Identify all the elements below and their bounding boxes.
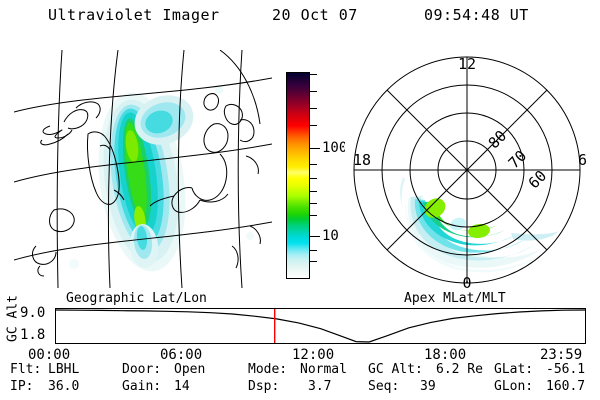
mlt-label-6: 6 bbox=[578, 151, 587, 169]
strip-plot-box bbox=[55, 308, 586, 344]
status-glon-value: 160.7 bbox=[546, 379, 585, 394]
mlt-label-12: 12 bbox=[458, 55, 476, 73]
colorbar-tick bbox=[310, 125, 317, 126]
colorbar-tick bbox=[310, 164, 317, 165]
apex-polar-svg: 12 18 6 0 60 70 80 bbox=[345, 45, 595, 293]
strip-x-tick-3: 18:00 bbox=[424, 347, 466, 363]
strip-plot-svg bbox=[56, 309, 585, 343]
strip-x-tick-2: 12:00 bbox=[292, 347, 334, 363]
status-ip-label: IP: bbox=[10, 379, 33, 394]
colorbar-tick bbox=[310, 261, 317, 262]
status-row-1: Flt: LBHL Door: Open Mode: Normal GC Alt… bbox=[0, 362, 600, 379]
status-seq-value: 39 bbox=[420, 379, 436, 394]
strip-x-tick-1: 06:00 bbox=[160, 347, 202, 363]
status-flt-label: Flt: bbox=[10, 362, 41, 377]
colorbar-tick bbox=[310, 108, 317, 109]
status-glat-value: -56.1 bbox=[546, 362, 585, 377]
colorbar-tick bbox=[310, 215, 317, 216]
uv-imager-display: Ultraviolet Imager 20 Oct 07 09:54:48 UT bbox=[0, 0, 600, 400]
strip-y-tick-high: 9.0 bbox=[20, 305, 45, 321]
colorbar-tick-major-100 bbox=[310, 148, 320, 149]
colorbar-gradient bbox=[287, 73, 309, 278]
status-door-value: Open bbox=[174, 362, 205, 377]
status-glon-label: GLon: bbox=[494, 379, 533, 394]
status-door-label: Door: bbox=[122, 362, 161, 377]
mlt-label-0: 0 bbox=[462, 274, 471, 292]
status-row-2: IP: 36.0 Gain: 14 Dsp: 3.7 Seq: 39 GLon:… bbox=[0, 379, 600, 396]
observation-date: 20 Oct 07 bbox=[272, 6, 358, 24]
geographic-map-panel bbox=[14, 50, 272, 288]
status-gain-label: Gain: bbox=[122, 379, 161, 394]
status-flt-value: LBHL bbox=[48, 362, 79, 377]
colorbar-tick bbox=[310, 203, 317, 204]
colorbar-tick bbox=[310, 178, 317, 179]
status-mode-label: Mode: bbox=[248, 362, 287, 377]
colorbar-tick bbox=[310, 191, 317, 192]
status-gcalt-value: 6.2 Re bbox=[436, 362, 483, 377]
colorbar-tick-label-10: 10 bbox=[322, 229, 339, 243]
colorbar-tick bbox=[310, 91, 317, 92]
strip-x-tick-0: 00:00 bbox=[28, 347, 70, 363]
header-bar: Ultraviolet Imager 20 Oct 07 09:54:48 UT bbox=[0, 6, 600, 32]
status-gain-value: 14 bbox=[174, 379, 190, 394]
colorbar-tick bbox=[310, 74, 317, 75]
apex-polar-panel: 12 18 6 0 60 70 80 bbox=[345, 45, 595, 293]
status-mode-value: Normal bbox=[300, 362, 347, 377]
status-seq-label: Seq: bbox=[368, 379, 399, 394]
status-dsp-value: 3.7 bbox=[308, 379, 331, 394]
observation-time: 09:54:48 UT bbox=[424, 6, 529, 24]
status-ip-value: 36.0 bbox=[48, 379, 79, 394]
colorbar-tick-label-100: 100 bbox=[322, 141, 347, 155]
strip-y-axis-label: GC Alt bbox=[6, 292, 21, 346]
instrument-title: Ultraviolet Imager bbox=[48, 6, 220, 24]
status-glat-label: GLat: bbox=[494, 362, 533, 377]
colorbar-tick bbox=[310, 250, 317, 251]
status-gcalt-label: GC Alt: bbox=[368, 362, 423, 377]
colorbar-tick-major-10 bbox=[310, 236, 320, 237]
gc-altitude-strip-plot: GC Alt 9.0 1.8 00:00 06:00 12:00 18:00 2… bbox=[0, 303, 600, 357]
polar-grid bbox=[354, 57, 580, 283]
colorbar: photon cm-2s-1 100 10 bbox=[266, 60, 346, 290]
geographic-map-svg bbox=[14, 50, 272, 288]
mlt-label-18: 18 bbox=[353, 151, 371, 169]
status-footer: Flt: LBHL Door: Open Mode: Normal GC Alt… bbox=[0, 362, 600, 400]
strip-y-tick-low: 1.8 bbox=[20, 327, 45, 343]
colorbar-gradient-box bbox=[286, 72, 310, 279]
strip-x-tick-4: 23:59 bbox=[540, 347, 582, 363]
status-dsp-label: Dsp: bbox=[248, 379, 279, 394]
